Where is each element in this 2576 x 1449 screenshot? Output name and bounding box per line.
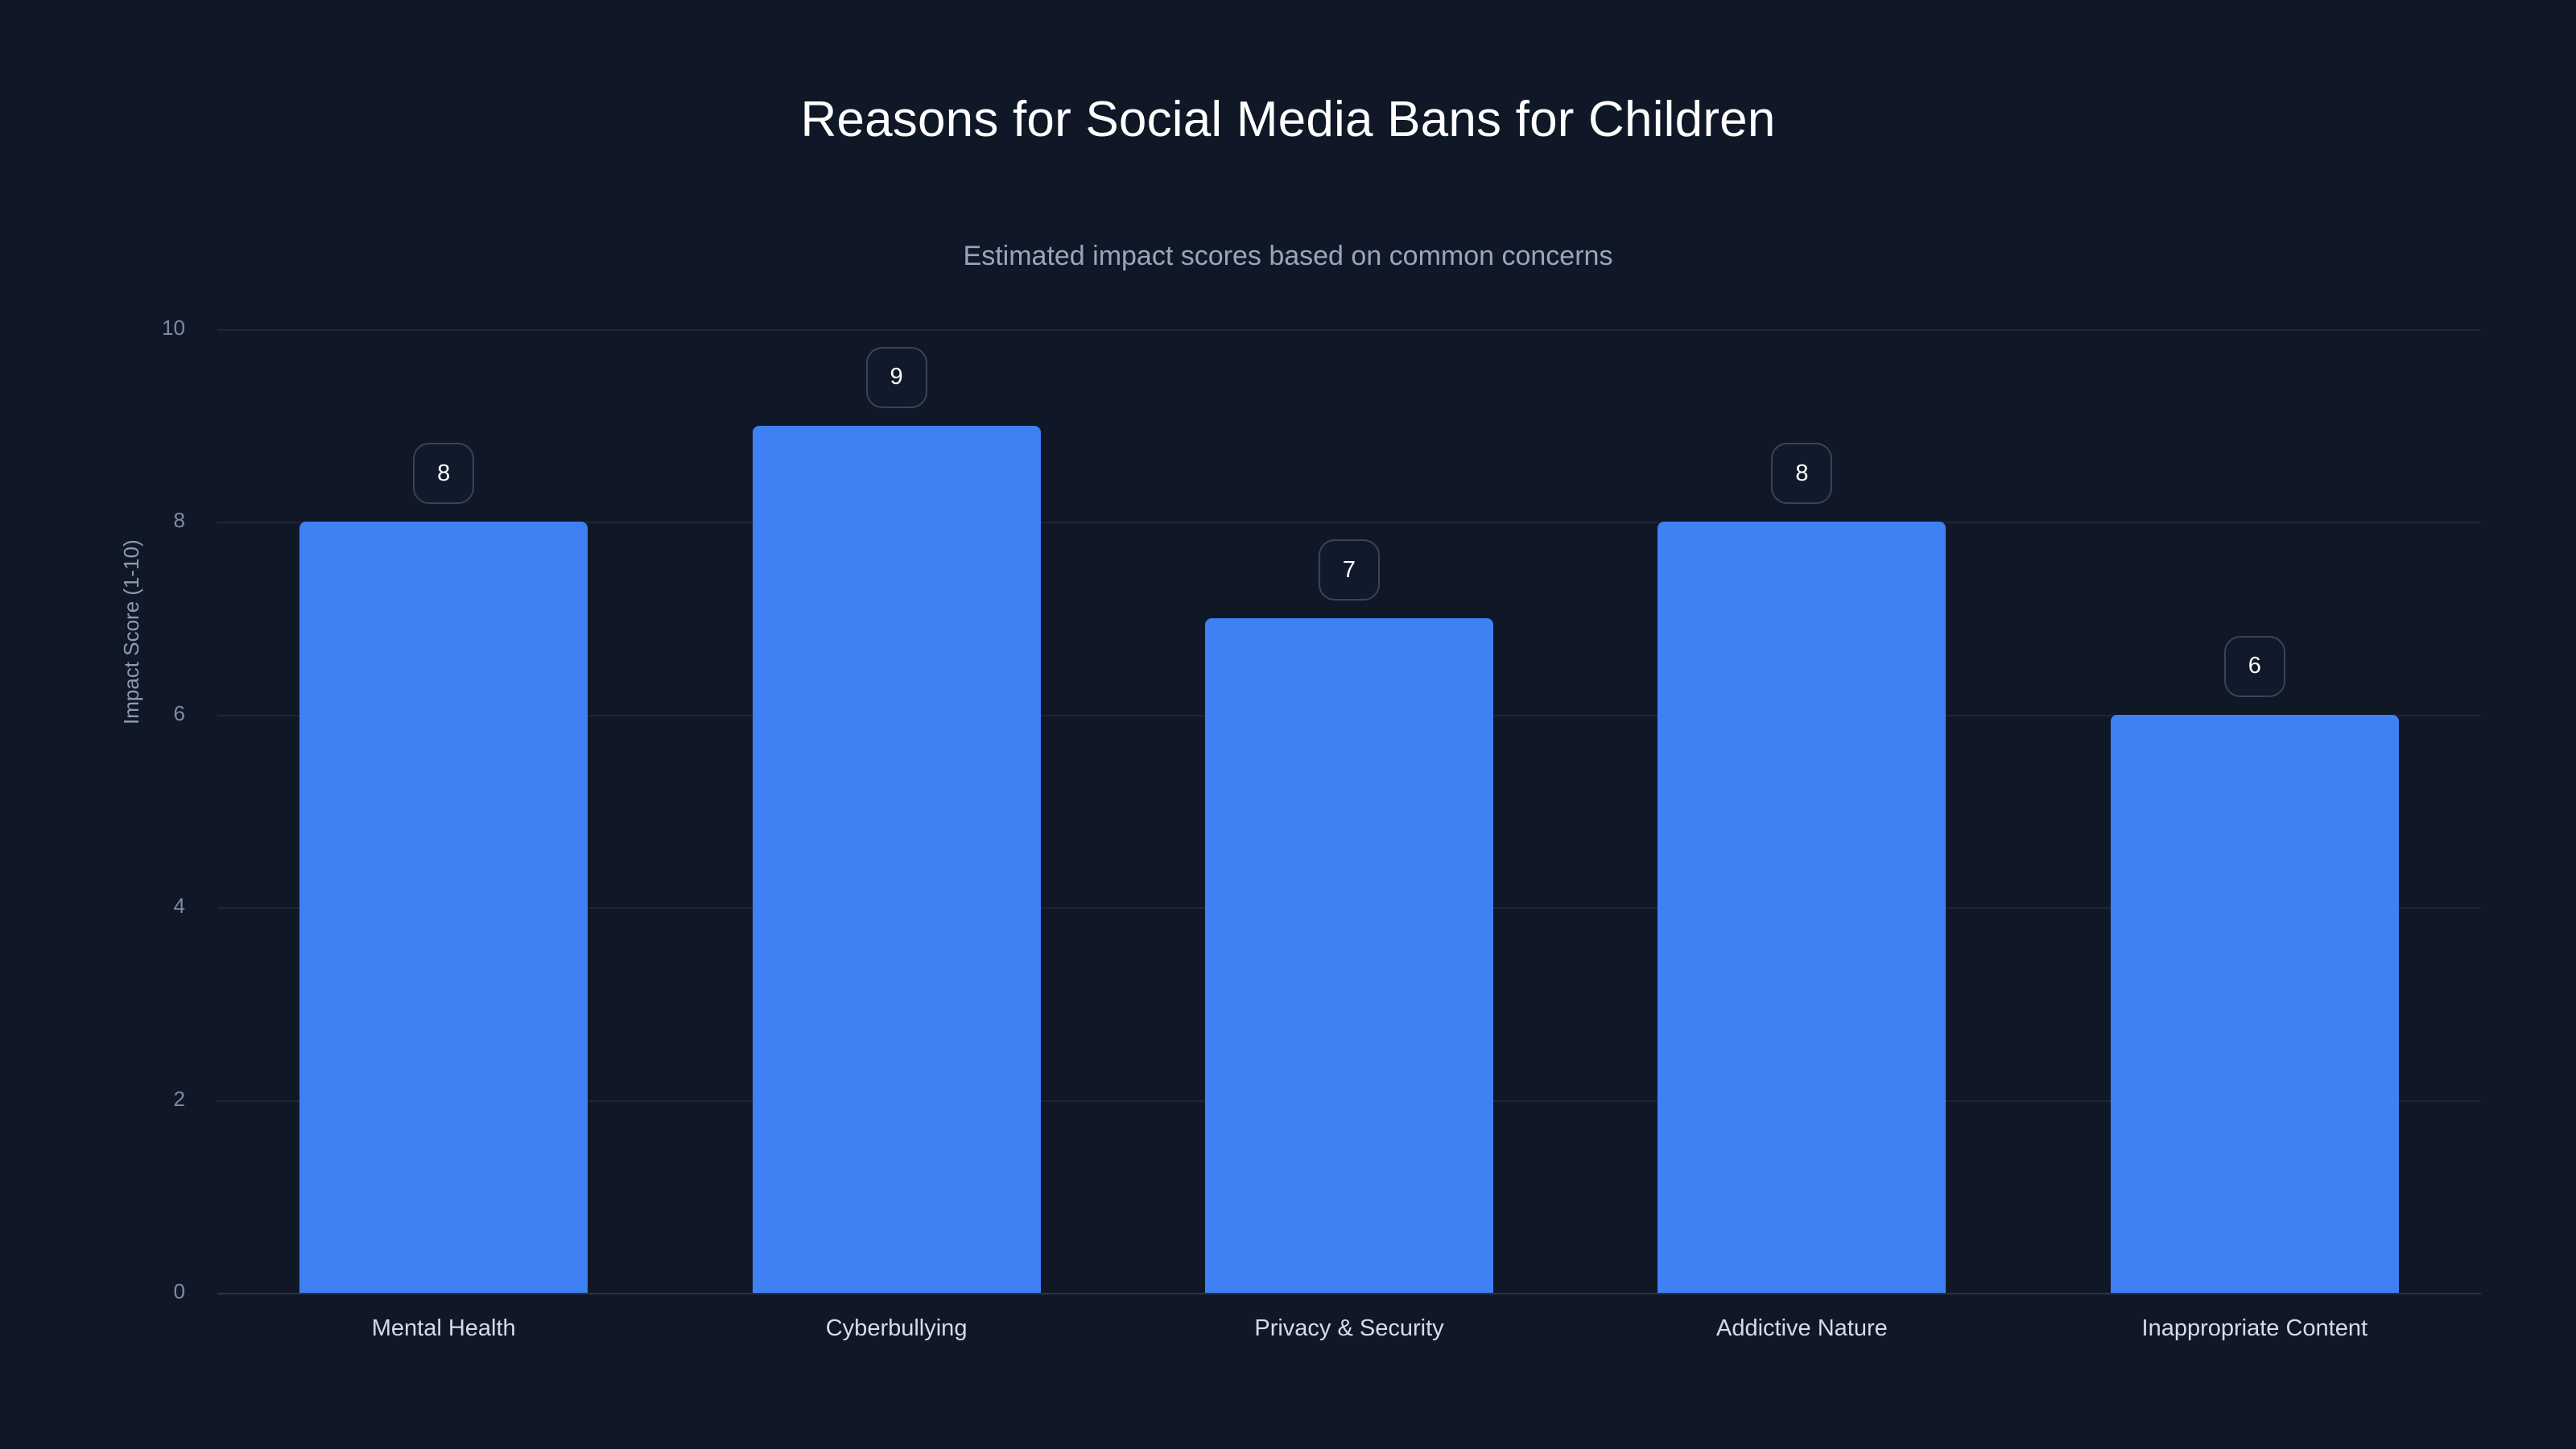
plot-area — [217, 329, 2481, 1293]
page-title: Reasons for Social Media Bans for Childr… — [0, 93, 2576, 147]
bar-value-badge: 8 — [413, 443, 474, 504]
chart-subtitle: Estimated impact scores based on common … — [0, 242, 2576, 271]
bar[interactable] — [299, 522, 588, 1293]
x-axis-tick-label: Inappropriate Content — [2142, 1315, 2368, 1342]
bar[interactable] — [1657, 522, 1946, 1293]
bar-chart: Reasons for Social Media Bans for Childr… — [0, 0, 2576, 1449]
bar-value-badge: 7 — [1319, 539, 1380, 601]
x-axis-tick-label: Mental Health — [372, 1315, 516, 1342]
x-axis-tick-label: Cyberbullying — [826, 1315, 968, 1342]
x-axis-tick-label: Privacy & Security — [1254, 1315, 1443, 1342]
bar-value-badge: 6 — [2224, 636, 2285, 697]
y-axis-tick-label: 10 — [0, 316, 185, 341]
y-axis-tick-label: 2 — [0, 1087, 185, 1112]
gridline — [217, 329, 2481, 331]
y-axis-title: Impact Score (1-10) — [119, 539, 144, 724]
bar-value-badge: 9 — [866, 347, 927, 408]
bar[interactable] — [753, 426, 1041, 1293]
y-axis-tick-label: 6 — [0, 701, 185, 726]
x-axis-tick-label: Addictive Nature — [1716, 1315, 1888, 1342]
bar[interactable] — [1205, 618, 1493, 1293]
bar[interactable] — [2111, 715, 2399, 1293]
y-axis-tick-label: 4 — [0, 894, 185, 919]
y-axis-tick-label: 8 — [0, 508, 185, 533]
y-axis-tick-label: 0 — [0, 1279, 185, 1304]
gridline — [217, 1293, 2481, 1294]
bar-value-badge: 8 — [1771, 443, 1832, 504]
